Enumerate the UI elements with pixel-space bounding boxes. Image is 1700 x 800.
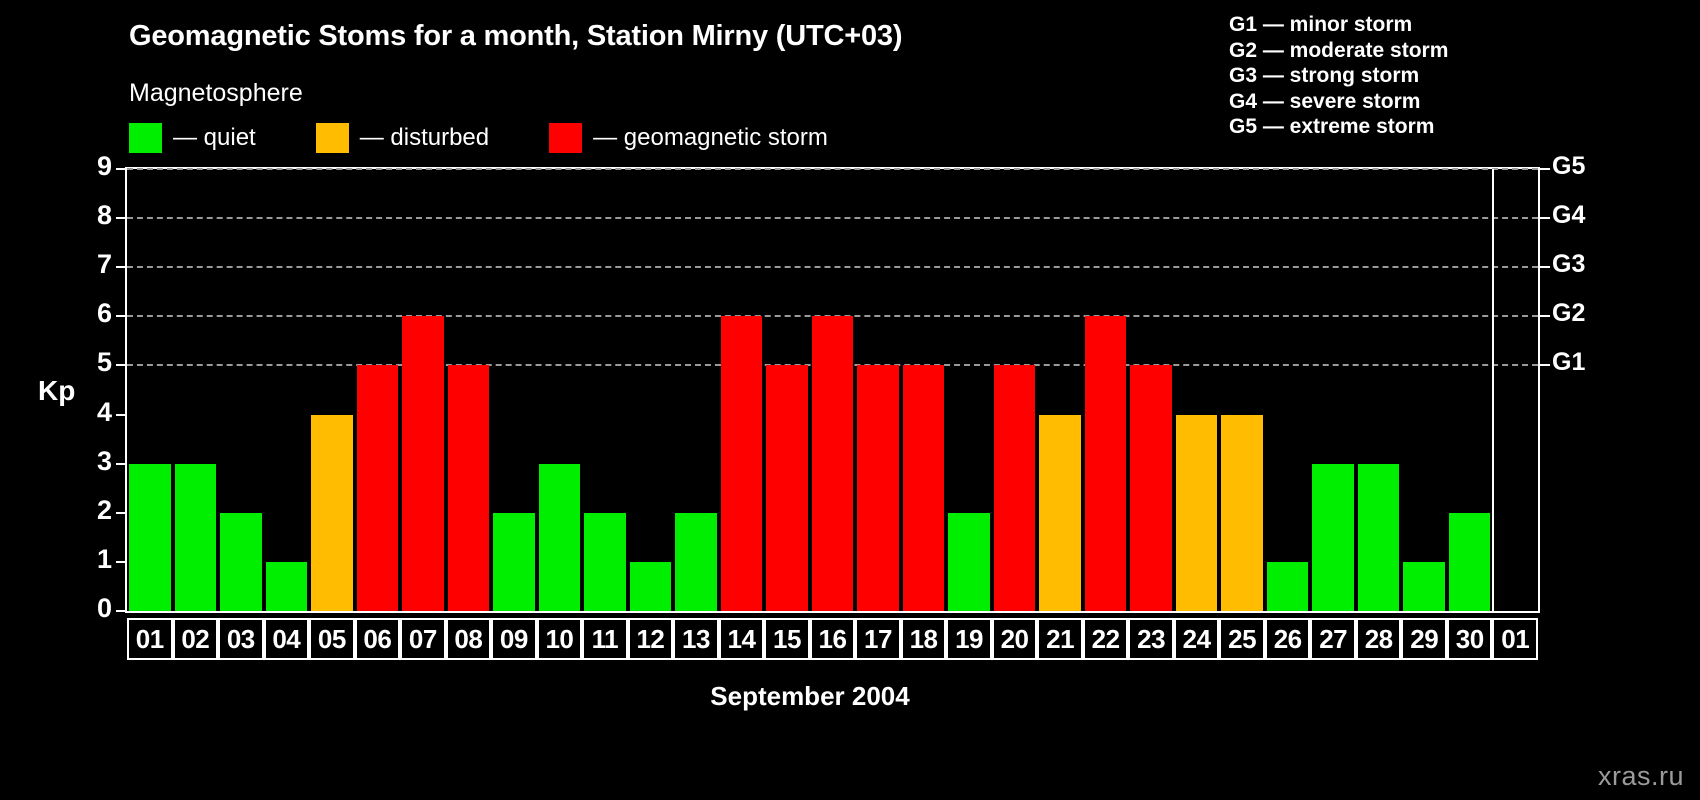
x-axis-title: September 2004 xyxy=(0,681,1700,712)
x-axis-day-box-17[interactable]: 18 xyxy=(901,618,947,660)
legend-swatch-quiet-icon xyxy=(129,123,162,153)
bar-day-20[interactable] xyxy=(994,365,1036,611)
x-axis-day-box-5[interactable]: 06 xyxy=(355,618,401,660)
x-axis-day-box-25[interactable]: 26 xyxy=(1265,618,1311,660)
legend-item-disturbed: — disturbed xyxy=(316,122,489,154)
bar-day-09[interactable] xyxy=(493,513,535,611)
x-axis-day-box-16[interactable]: 17 xyxy=(855,618,901,660)
g-axis-tick-g3 xyxy=(1540,266,1550,268)
bar-day-11[interactable] xyxy=(584,513,626,611)
bar-day-04[interactable] xyxy=(266,562,308,611)
x-axis-day-box-30[interactable]: 01 xyxy=(1492,618,1538,660)
plot-divider xyxy=(1492,169,1494,611)
x-axis-day-box-13[interactable]: 14 xyxy=(719,618,765,660)
bar-day-08[interactable] xyxy=(448,365,490,611)
x-axis-day-box-7[interactable]: 08 xyxy=(446,618,492,660)
bar-day-03[interactable] xyxy=(220,513,262,611)
bar-day-25[interactable] xyxy=(1221,415,1263,611)
legend: — quiet — disturbed — geomagnetic storm xyxy=(129,122,828,154)
y-tick-label-2: 2 xyxy=(72,497,112,524)
bar-day-12[interactable] xyxy=(630,562,672,611)
g-scale-legend: G1 — minor storm G2 — moderate storm G3 … xyxy=(1229,12,1629,140)
y-tick-label-6: 6 xyxy=(72,300,112,327)
x-axis-day-box-22[interactable]: 23 xyxy=(1128,618,1174,660)
x-axis-day-box-28[interactable]: 29 xyxy=(1401,618,1447,660)
bar-day-23[interactable] xyxy=(1130,365,1172,611)
g-axis-tick-g2 xyxy=(1540,315,1550,317)
bar-day-27[interactable] xyxy=(1312,464,1354,611)
x-axis-day-box-8[interactable]: 09 xyxy=(491,618,537,660)
y-tick-mark-5 xyxy=(116,364,125,366)
x-axis-day-box-12[interactable]: 13 xyxy=(673,618,719,660)
x-axis-day-box-0[interactable]: 01 xyxy=(127,618,173,660)
y-tick-mark-7 xyxy=(116,266,125,268)
y-tick-label-3: 3 xyxy=(72,448,112,475)
g-axis-tick-g1 xyxy=(1540,364,1550,366)
bar-day-05[interactable] xyxy=(311,415,353,611)
x-axis-day-box-29[interactable]: 30 xyxy=(1447,618,1493,660)
bar-day-19[interactable] xyxy=(948,513,990,611)
g-scale-legend-line-g2: G2 — moderate storm xyxy=(1229,38,1629,64)
y-axis-labels: 0123456789 xyxy=(72,167,112,613)
x-axis-day-box-4[interactable]: 05 xyxy=(309,618,355,660)
y-tick-label-1: 1 xyxy=(72,546,112,573)
x-axis-day-box-20[interactable]: 21 xyxy=(1037,618,1083,660)
y-tick-label-9: 9 xyxy=(72,153,112,180)
y-tick-mark-1 xyxy=(116,561,125,563)
y-tick-label-4: 4 xyxy=(72,399,112,426)
bar-day-14[interactable] xyxy=(721,316,763,611)
x-axis-day-box-18[interactable]: 19 xyxy=(946,618,992,660)
x-axis-day-box-26[interactable]: 27 xyxy=(1310,618,1356,660)
bar-day-21[interactable] xyxy=(1039,415,1081,611)
x-axis-day-box-9[interactable]: 10 xyxy=(537,618,583,660)
bar-day-07[interactable] xyxy=(402,316,444,611)
legend-label-quiet: — quiet xyxy=(173,124,256,152)
x-axis-day-box-23[interactable]: 24 xyxy=(1174,618,1220,660)
bar-day-26[interactable] xyxy=(1267,562,1309,611)
bar-day-29[interactable] xyxy=(1403,562,1445,611)
y-tick-label-8: 8 xyxy=(72,202,112,229)
g-axis-label-g4: G4 xyxy=(1552,203,1585,228)
x-axis-day-box-2[interactable]: 03 xyxy=(218,618,264,660)
g-axis-labels: G1G2G3G4G5 xyxy=(1552,167,1622,613)
bar-day-02[interactable] xyxy=(175,464,217,611)
x-axis-day-box-10[interactable]: 11 xyxy=(582,618,628,660)
bars-layer xyxy=(127,169,1538,611)
x-axis-day-box-1[interactable]: 02 xyxy=(173,618,219,660)
g-scale-legend-line-g4: G4 — severe storm xyxy=(1229,89,1629,115)
bar-day-28[interactable] xyxy=(1358,464,1400,611)
x-axis-day-box-27[interactable]: 28 xyxy=(1356,618,1402,660)
x-axis-day-box-11[interactable]: 12 xyxy=(628,618,674,660)
x-axis-day-box-19[interactable]: 20 xyxy=(992,618,1038,660)
g-axis-tick-g4 xyxy=(1540,217,1550,219)
g-axis-label-g1: G1 xyxy=(1552,350,1585,375)
y-tick-mark-3 xyxy=(116,463,125,465)
bar-day-15[interactable] xyxy=(766,365,808,611)
bar-day-24[interactable] xyxy=(1176,415,1218,611)
chart-title: Geomagnetic Stoms for a month, Station M… xyxy=(129,20,902,53)
x-axis-day-box-15[interactable]: 16 xyxy=(810,618,856,660)
legend-item-quiet: — quiet xyxy=(129,122,256,154)
bar-day-06[interactable] xyxy=(357,365,399,611)
y-tick-mark-8 xyxy=(116,217,125,219)
y-tick-mark-9 xyxy=(116,168,125,170)
legend-item-storm: — geomagnetic storm xyxy=(549,122,828,154)
legend-swatch-disturbed-icon xyxy=(316,123,349,153)
g-axis-label-g2: G2 xyxy=(1552,301,1585,326)
plot-inner xyxy=(127,169,1538,611)
y-tick-label-5: 5 xyxy=(72,349,112,376)
bar-day-13[interactable] xyxy=(675,513,717,611)
legend-label-storm: — geomagnetic storm xyxy=(593,124,828,152)
x-axis-day-box-24[interactable]: 25 xyxy=(1219,618,1265,660)
g-axis-tick-g5 xyxy=(1540,168,1550,170)
g-scale-legend-line-g3: G3 — strong storm xyxy=(1229,63,1629,89)
legend-heading: Magnetosphere xyxy=(129,79,303,108)
bar-day-01[interactable] xyxy=(129,464,171,611)
x-axis-day-boxes: 0102030405060708091011121314151617181920… xyxy=(125,618,1540,660)
y-axis-title: Kp xyxy=(38,375,75,407)
y-tick-mark-4 xyxy=(116,414,125,416)
y-tick-mark-2 xyxy=(116,512,125,514)
plot-area xyxy=(125,167,1540,613)
bar-day-18[interactable] xyxy=(903,365,945,611)
bar-day-17[interactable] xyxy=(857,365,899,611)
x-axis-day-box-21[interactable]: 22 xyxy=(1083,618,1129,660)
g-axis-label-g3: G3 xyxy=(1552,252,1585,277)
y-tick-label-7: 7 xyxy=(72,251,112,278)
x-axis-day-box-3[interactable]: 04 xyxy=(264,618,310,660)
g-scale-legend-line-g5: G5 — extreme storm xyxy=(1229,114,1629,140)
g-scale-legend-line-g1: G1 — minor storm xyxy=(1229,12,1629,38)
legend-label-disturbed: — disturbed xyxy=(360,124,489,152)
legend-swatch-storm-icon xyxy=(549,123,582,153)
watermark: xras.ru xyxy=(1598,761,1684,792)
bar-day-10[interactable] xyxy=(539,464,581,611)
y-tick-label-0: 0 xyxy=(72,595,112,622)
bar-day-16[interactable] xyxy=(812,316,854,611)
x-axis-day-box-14[interactable]: 15 xyxy=(764,618,810,660)
g-axis-label-g5: G5 xyxy=(1552,154,1585,179)
bar-day-22[interactable] xyxy=(1085,316,1127,611)
y-tick-mark-0 xyxy=(116,610,125,612)
bar-day-30[interactable] xyxy=(1449,513,1491,611)
y-tick-mark-6 xyxy=(116,315,125,317)
x-axis-day-box-6[interactable]: 07 xyxy=(400,618,446,660)
